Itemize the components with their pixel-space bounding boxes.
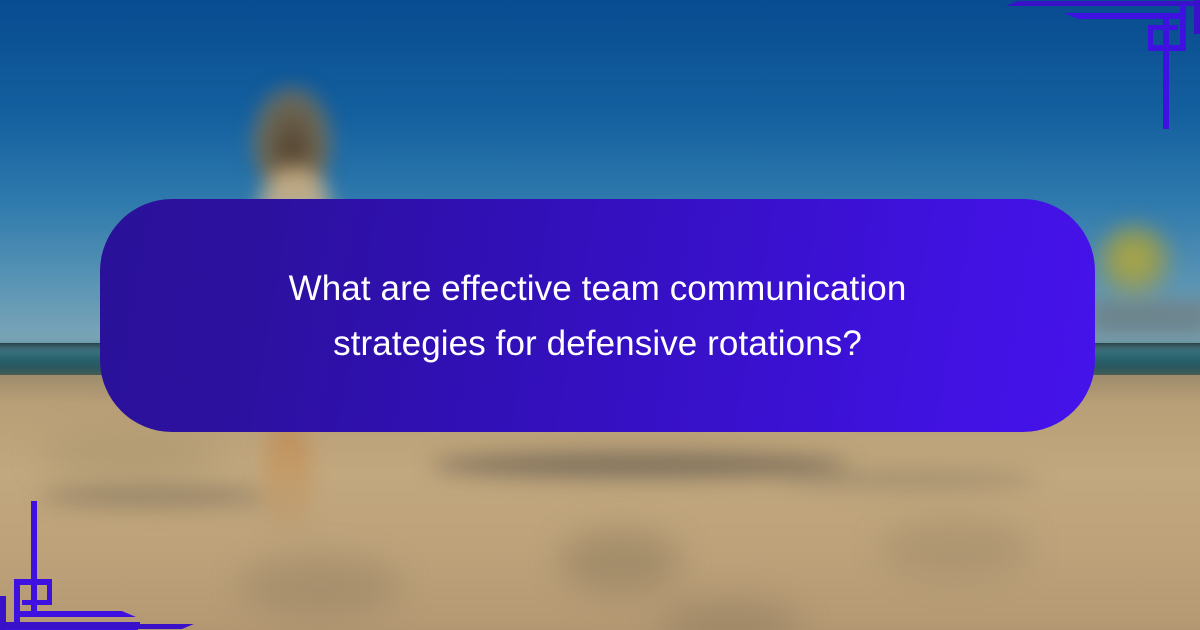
ornament-line-horizontal xyxy=(1148,45,1186,51)
corner-ornament-bottom-left xyxy=(0,430,400,630)
question-text: What are effective team communication st… xyxy=(233,261,963,371)
ornament-square-right xyxy=(47,579,52,605)
ornament-line-vertical xyxy=(14,579,20,625)
ornament-line-vertical xyxy=(1194,0,1200,34)
beach-umbrella xyxy=(1098,224,1172,298)
ornament-line-horizontal xyxy=(1078,13,1186,19)
ornament-line-cap xyxy=(1006,1,1018,6)
sand-texture-blob xyxy=(560,530,680,592)
ornament-line-horizontal-lower xyxy=(0,622,140,628)
ornament-line-cap xyxy=(122,611,136,617)
sand-shadow-streak xyxy=(430,452,850,478)
question-card: What are effective team communication st… xyxy=(100,199,1095,432)
distant-structure xyxy=(1090,300,1200,336)
sand-shadow-streak xyxy=(780,470,1040,488)
ornament-line-cap xyxy=(182,624,194,629)
corner-ornament-top-right xyxy=(0,0,1200,200)
ornament-square-left xyxy=(1148,25,1153,51)
sand-texture-blob xyxy=(880,520,1030,576)
ornament-line-cap xyxy=(1064,13,1078,19)
ornament-line-horizontal xyxy=(1018,1,1200,6)
social-card-canvas: What are effective team communication st… xyxy=(0,0,1200,630)
ornament-line-vertical xyxy=(1163,13,1169,129)
